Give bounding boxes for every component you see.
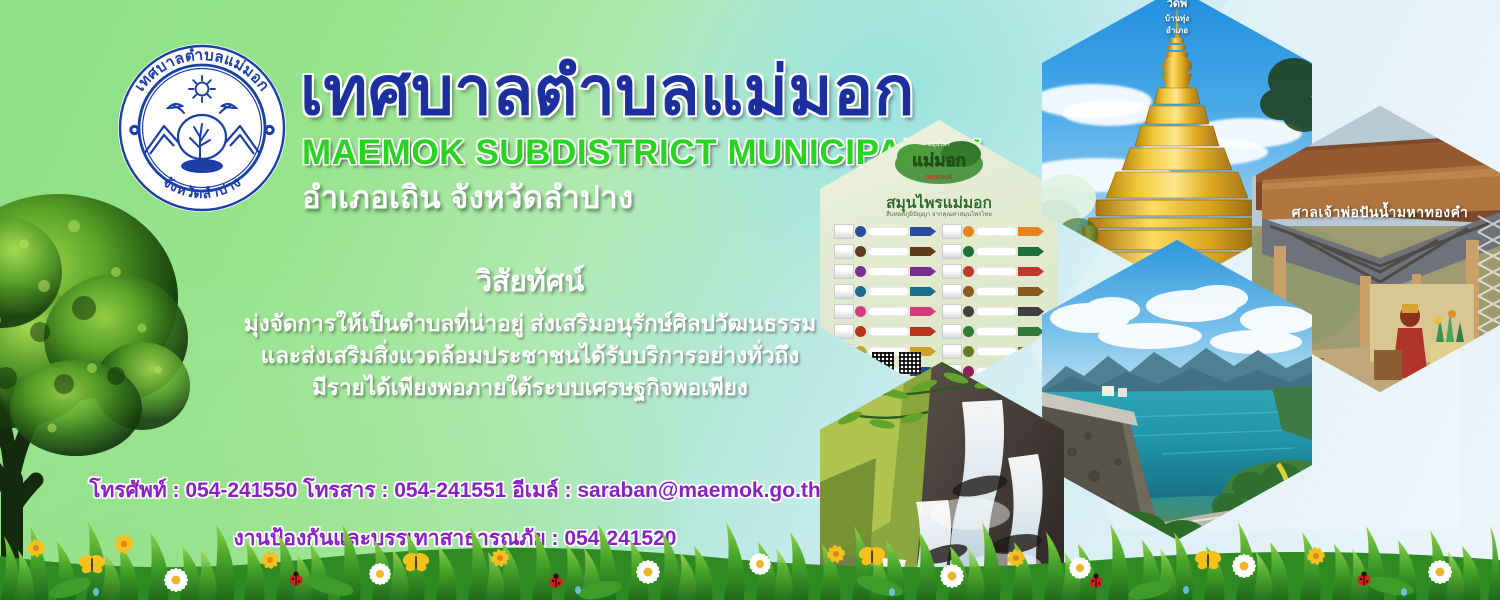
vision-heading: วิสัยทัศน์ (240, 258, 820, 304)
herbal-product-item (834, 323, 936, 340)
herbal-product-item (834, 223, 936, 240)
grass-flower-strip (0, 514, 1500, 600)
herbal-product-item (834, 303, 936, 320)
herbal-product-item (942, 283, 1044, 300)
herbal-product-item (942, 243, 1044, 260)
vision-line-2: และส่งเสริมสิ่งแวดล้อมประชาชนได้รับบริกา… (240, 340, 820, 372)
hex-herbal-products-poster[interactable]: สมุนไพร แม่มอก maemok สมุนไพรแม่มอก สืบท… (820, 120, 1058, 396)
hexagon-photo-collage: สมุนไพร แม่มอก maemok สมุนไพรแม่มอก สืบท… (806, 0, 1500, 594)
svg-text:สมุนไพร: สมุนไพร (928, 140, 951, 148)
herbal-product-item (942, 343, 1044, 360)
herbal-poster-footer (842, 350, 921, 375)
municipality-banner: เทศบาลตำบลแม่มอก จังหวัดลำปาง (0, 0, 1500, 600)
herbal-product-grid (834, 223, 1044, 380)
qr-code-line[interactable] (899, 352, 921, 374)
herbal-product-item (942, 323, 1044, 340)
vision-block: วิสัยทัศน์ มุ่งจัดการให้เป็นตำบลที่น่าอย… (240, 258, 820, 404)
page-subtitle-district: อำเภอเถิน จังหวัดลำปาง (302, 172, 634, 222)
herbal-product-item (942, 223, 1044, 240)
svg-text:maemok: maemok (926, 172, 953, 181)
svg-text:แม่มอก: แม่มอก (912, 151, 966, 170)
qr-code-facebook[interactable] (872, 352, 894, 374)
herbal-product-item (834, 243, 936, 260)
herbal-product-item (834, 263, 936, 280)
shrine-caption: ศาลเจ้าพ่อปันน้ำมหาทองคำ (1252, 202, 1500, 224)
grass-icon (0, 514, 1500, 600)
vision-line-3: มีรายได้เพียงพอภายใต้ระบบเศรษฐกิจพอเพียง (240, 372, 820, 404)
herbal-product-item (942, 263, 1044, 280)
maemok-brand-logo-icon: สมุนไพร แม่มอก maemok (891, 134, 987, 186)
herbal-poster-subtitle: สืบทอดภูมิปัญญา จากคุณค่าสมุนไพรไทย (820, 209, 1058, 219)
vision-line-1: มุ่งจัดการให้เป็นตำบลที่น่าอยู่ ส่งเสริม… (240, 308, 820, 340)
tree-icon (0, 180, 256, 570)
herbal-product-item (942, 303, 1044, 320)
herbal-product-item (834, 283, 936, 300)
tree-silhouette-decoration (0, 180, 256, 570)
pagoda-caption-line3: อำเภอ (1042, 24, 1312, 37)
pagoda-caption-line1: วัดพ (1042, 0, 1312, 12)
social-contact-list (842, 350, 867, 375)
